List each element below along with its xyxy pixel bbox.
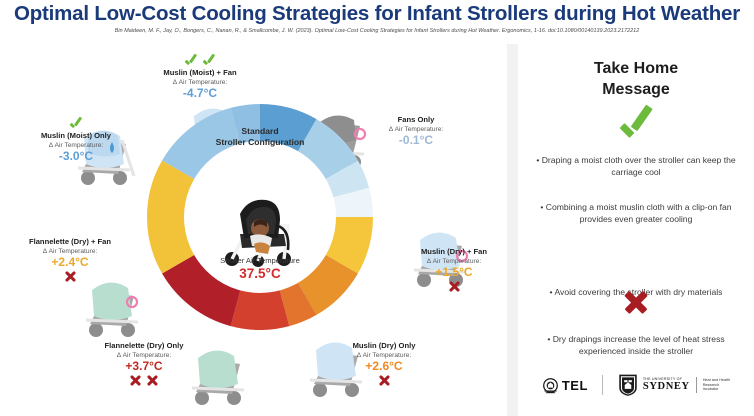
take-home-title: Take Home Message <box>518 58 754 100</box>
sydney-logo: THE UNIVERSITY OF SYDNEY Heat and Health… <box>617 373 730 397</box>
take-home-title-line1: Take Home <box>594 60 678 77</box>
center-title: Standard Stroller Configuration <box>147 126 373 148</box>
center-title-line2: Stroller Configuration <box>216 137 305 147</box>
wheel-panel: Standard Stroller Configuration <box>0 44 507 416</box>
callout-muslin-moist-only: Muslin (Moist) Only Δ Air Temperature: -… <box>6 117 146 163</box>
strategy-sub: Δ Air Temperature: <box>322 352 446 359</box>
logo-row: TEL THE UNIVERSITY OF SYDNEY <box>518 354 754 416</box>
take-home-check <box>617 110 655 151</box>
check-icon <box>202 55 216 69</box>
marks-muslin-moist-only <box>6 118 146 132</box>
strategy-value: -0.1°C <box>352 134 480 147</box>
strategy-wheel: Standard Stroller Configuration <box>147 104 373 330</box>
marks-muslin-moist-fan <box>120 55 280 69</box>
tel-logo-text: TEL <box>562 378 588 393</box>
strategy-value: +2.4°C <box>2 256 138 269</box>
tel-emblem-icon <box>542 377 559 394</box>
strategy-name: Flannelette (Dry) Only <box>74 342 214 351</box>
marks-muslin-dry-fan <box>392 280 507 293</box>
cross-icon <box>146 374 159 387</box>
list-item: • Draping a moist cloth over the strolle… <box>526 155 746 178</box>
cross-icon <box>623 289 649 315</box>
callout-muslin-dry-fan: Muslin (Dry) + Fan Δ Air Temperature: +1… <box>392 248 507 293</box>
cross-icon <box>129 374 142 387</box>
sydney-sub-line1: Heat and Health <box>703 378 730 382</box>
take-home-title-line2: Message <box>602 81 670 98</box>
tel-logo: TEL <box>542 377 588 394</box>
infographic-page: Optimal Low-Cost Cooling Strategies for … <box>0 0 754 416</box>
panel-divider <box>507 44 518 416</box>
callout-flannelette-dry-only: Flannelette (Dry) Only Δ Air Temperature… <box>74 342 214 387</box>
strategy-value: +3.7°C <box>74 360 214 373</box>
callout-fans-only: Fans Only Δ Air Temperature: -0.1°C <box>352 116 480 147</box>
marks-flannelette-dry-fan <box>2 270 138 283</box>
strategy-name: Fans Only <box>352 116 480 125</box>
strategy-value: +2.6°C <box>322 360 446 373</box>
callout-flannelette-dry-fan: Flannelette (Dry) + Fan Δ Air Temperatur… <box>2 238 138 283</box>
page-title: Optimal Low-Cost Cooling Strategies for … <box>0 2 754 26</box>
check-icon <box>184 55 198 69</box>
header: Optimal Low-Cost Cooling Strategies for … <box>0 0 754 44</box>
strategy-value: -4.7°C <box>120 87 280 100</box>
sydney-inner-divider <box>696 377 697 393</box>
check-icon <box>617 110 655 146</box>
cross-icon <box>448 280 461 293</box>
marks-flannelette-dry-only <box>74 374 214 387</box>
strategy-sub: Δ Air Temperature: <box>392 258 507 265</box>
sydney-sub-line3: Incubator <box>703 387 719 391</box>
logo-divider <box>602 375 603 395</box>
list-item: • Combining a moist muslin cloth with a … <box>526 202 746 225</box>
strategy-name: Muslin (Moist) + Fan <box>120 69 280 78</box>
strategy-name: Muslin (Dry) + Fan <box>392 248 507 257</box>
center-temperature-value: 37.5°C <box>147 266 373 281</box>
sydney-wordmark: THE UNIVERSITY OF SYDNEY <box>643 378 690 392</box>
callout-muslin-moist-fan: Muslin (Moist) + Fan Δ Air Temperature: … <box>120 54 280 100</box>
cross-icon <box>64 270 77 283</box>
strategy-sub: Δ Air Temperature: <box>2 248 138 255</box>
strategy-name: Muslin (Moist) Only <box>6 132 146 141</box>
sydney-sub-line2: Research <box>703 383 719 387</box>
callout-muslin-dry-only: Muslin (Dry) Only Δ Air Temperature: +2.… <box>322 342 446 387</box>
sydney-subtitle: Heat and Health Research Incubator <box>703 378 730 392</box>
citation-text: Bin Maideen, M. F., Jay, O., Bongers, C.… <box>0 28 754 34</box>
take-home-cross <box>623 289 649 320</box>
center-temperature-label: Stroller Air Temperature <box>147 256 373 265</box>
take-home-panel: Take Home Message • Draping a moist clot… <box>518 44 754 416</box>
sydney-big-text: SYDNEY <box>643 382 690 393</box>
cross-icon <box>378 374 391 387</box>
strategy-sub: Δ Air Temperature: <box>352 126 480 133</box>
strategy-name: Muslin (Dry) Only <box>322 342 446 351</box>
strategy-name: Flannelette (Dry) + Fan <box>2 238 138 247</box>
check-icon <box>69 118 83 132</box>
strategy-value: +1.5°C <box>392 266 507 279</box>
strategy-sub: Δ Air Temperature: <box>6 142 146 149</box>
center-title-line1: Standard <box>241 126 278 136</box>
strategy-value: -3.0°C <box>6 150 146 163</box>
sydney-crest-icon <box>617 373 639 397</box>
strategy-sub: Δ Air Temperature: <box>74 352 214 359</box>
marks-muslin-dry-only <box>322 374 446 387</box>
strategy-sub: Δ Air Temperature: <box>120 79 280 86</box>
